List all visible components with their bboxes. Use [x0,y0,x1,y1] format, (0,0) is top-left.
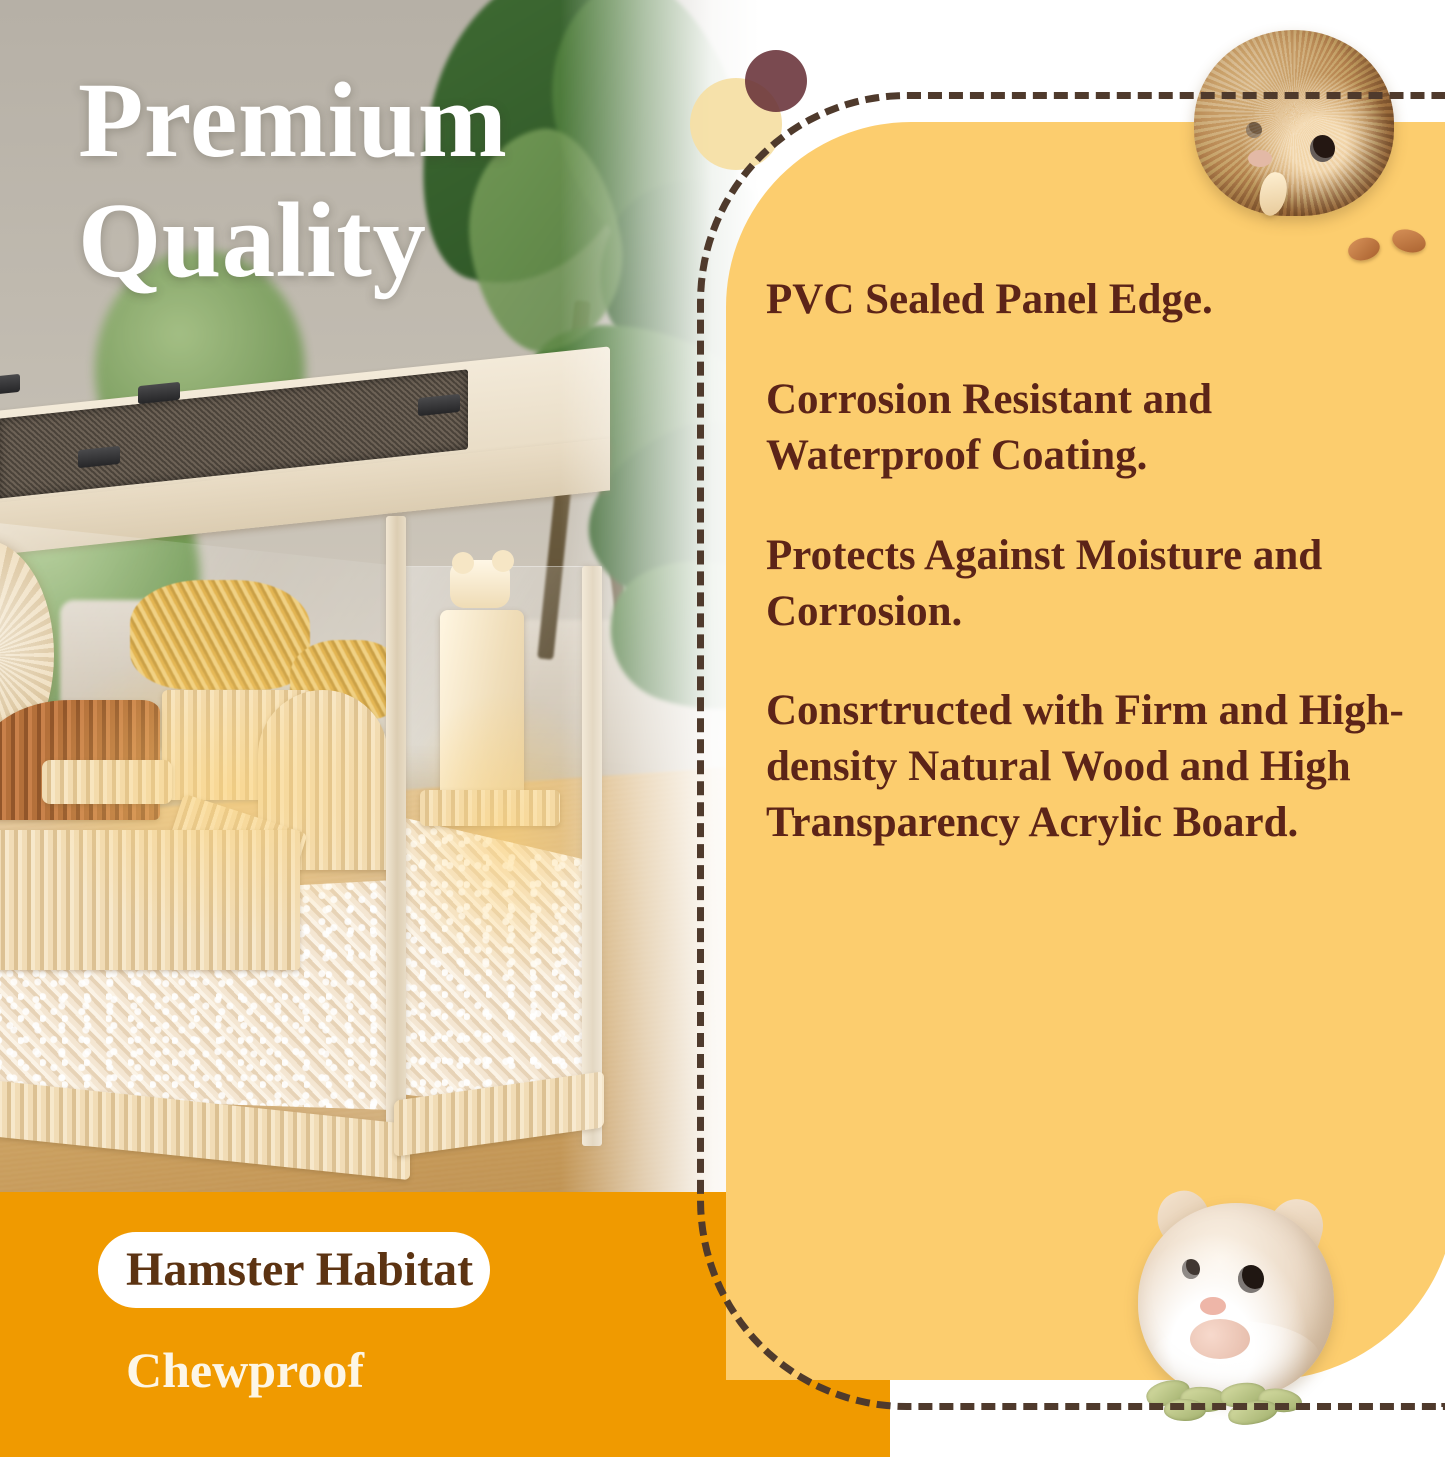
cage-hinge [0,374,20,396]
decor-circle-maroon [745,50,807,112]
hamster-eye-left [1182,1259,1200,1279]
feature-item: Consrtructed with Firm and High-density … [766,683,1436,851]
feature-item: Protects Against Moisture and Corrosion. [766,528,1436,640]
title-line-2: Quality [78,182,698,302]
cage-bottle-stand [420,790,560,826]
hamster-fur-texture [1194,30,1394,216]
cage-water-bottle [440,610,524,800]
photo-bottom-fade [0,1140,760,1200]
cage-wooden-platform [42,760,172,804]
hamster-nose [1200,1297,1226,1315]
feature-list: PVC Sealed Panel Edge. Corrosion Resista… [766,272,1436,851]
bear-ear-icon [492,550,514,572]
hamster-nose [1248,150,1272,167]
brown-hamster-image [1188,22,1403,237]
cage-corner-post [386,516,406,1166]
cage-dried-hay [130,580,310,690]
white-hamster-image [1128,1185,1378,1435]
feature-item: Corrosion Resistant and Waterproof Coati… [766,372,1436,484]
title-line-1: Premium [78,62,698,182]
bear-ear-icon [452,552,474,574]
hamster-paws [1190,1319,1250,1359]
badge-primary-label: Hamster Habitat [126,1240,646,1300]
hamster-eye-right [1310,135,1335,162]
hamster-eye-right [1238,1265,1264,1293]
hamster-cage [0,360,650,1160]
infographic-canvas: Premium Quality PVC Sealed Panel Edge. C… [0,0,1445,1457]
cage-wooden-rail-border [0,830,300,970]
hamster-eye-left [1246,122,1262,138]
feature-item: PVC Sealed Panel Edge. [766,272,1436,328]
page-title: Premium Quality [78,62,698,302]
badge-secondary-label: Chewproof [126,1340,646,1400]
